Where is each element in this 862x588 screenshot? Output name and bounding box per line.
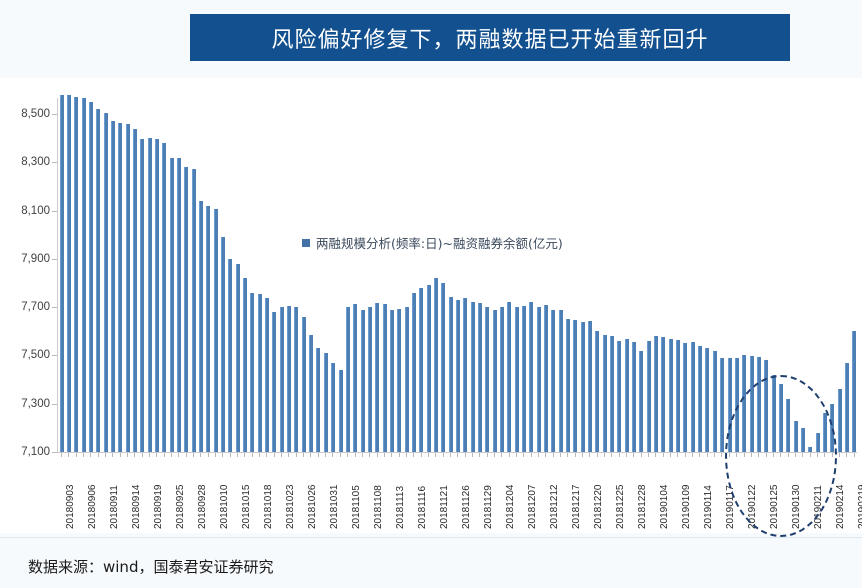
x-axis-tick	[413, 453, 414, 457]
bar	[140, 139, 144, 452]
bar	[111, 121, 115, 452]
x-axis-tick-label: 20181126	[461, 485, 472, 529]
bar	[133, 129, 137, 452]
x-axis-tick	[200, 453, 201, 457]
x-axis-tick	[824, 453, 825, 457]
x-axis-tick-label: 20180911	[109, 485, 120, 529]
y-axis-tick-label: 7,700	[4, 301, 50, 313]
bar	[808, 447, 812, 452]
bar	[779, 384, 783, 452]
x-axis-tick	[714, 453, 715, 457]
bar	[830, 404, 834, 452]
bar	[772, 375, 776, 452]
bar	[361, 310, 365, 452]
x-axis-tick	[839, 453, 840, 457]
y-axis-tick-label: 8,300	[4, 156, 50, 168]
x-axis-tick	[545, 453, 546, 457]
x-axis-tick	[230, 453, 231, 457]
x-axis-tick-label: 20181225	[615, 485, 626, 530]
x-axis-tick	[127, 453, 128, 457]
y-axis-tick	[52, 162, 57, 163]
bar	[441, 283, 445, 452]
bar	[309, 335, 313, 452]
bar	[705, 348, 709, 452]
x-axis-tick	[751, 453, 752, 457]
x-axis-tick	[692, 453, 693, 457]
x-axis-tick	[766, 453, 767, 457]
bar	[228, 259, 232, 452]
x-axis-tick	[391, 453, 392, 457]
bar	[632, 342, 636, 452]
bar	[794, 421, 798, 452]
x-axis-tick	[340, 453, 341, 457]
y-axis-tick	[52, 114, 57, 115]
x-axis-tick	[648, 453, 649, 457]
bar	[823, 413, 827, 452]
bar	[96, 109, 100, 452]
bar	[471, 302, 475, 452]
x-axis-tick	[832, 453, 833, 457]
x-axis-tick	[641, 453, 642, 457]
bar	[449, 297, 453, 452]
bar	[786, 399, 790, 452]
x-axis-tick	[589, 453, 590, 457]
x-axis-tick-label: 20190109	[681, 485, 692, 530]
legend-label: 两融规模分析(频率:日)~融资融券余额(亿元)	[316, 233, 563, 252]
bar	[434, 278, 438, 452]
bar	[427, 285, 431, 452]
x-axis-tick	[472, 453, 473, 457]
x-axis-tick	[288, 453, 289, 457]
x-axis-tick-label: 20181212	[549, 485, 560, 530]
x-axis-tick	[670, 453, 671, 457]
x-axis-tick	[362, 453, 363, 457]
bar	[316, 348, 320, 452]
bar	[280, 307, 284, 452]
bar	[493, 310, 497, 452]
x-axis-ticks	[58, 453, 858, 458]
x-axis-tick-label: 20190122	[747, 485, 758, 530]
x-axis-tick	[90, 453, 91, 457]
x-axis-tick	[450, 453, 451, 457]
x-axis-tick	[142, 453, 143, 457]
bar	[243, 278, 247, 452]
bar	[838, 389, 842, 452]
x-axis-tick-label: 20190130	[791, 485, 802, 530]
x-axis-tick	[68, 453, 69, 457]
bar	[588, 321, 592, 452]
x-axis-tick	[83, 453, 84, 457]
x-axis-tick	[744, 453, 745, 457]
x-axis-tick	[171, 453, 172, 457]
x-axis-tick-label: 20180914	[131, 485, 142, 530]
y-axis-tick-label: 8,500	[4, 108, 50, 120]
x-axis-tick	[538, 453, 539, 457]
x-axis-tick	[186, 453, 187, 457]
bar	[148, 138, 152, 452]
bar	[82, 98, 86, 452]
x-axis-tick-label: 20181116	[417, 486, 428, 529]
x-axis-tick-label: 20181228	[637, 485, 648, 530]
x-axis-tick	[655, 453, 656, 457]
x-axis-tick-label: 20190125	[769, 485, 780, 530]
bar-series	[58, 90, 858, 452]
bar	[177, 158, 181, 452]
bar	[390, 310, 394, 452]
x-axis-tick	[215, 453, 216, 457]
bar	[89, 102, 93, 452]
bar	[529, 302, 533, 452]
x-axis-tick	[98, 453, 99, 457]
bar	[713, 351, 717, 452]
bar	[625, 339, 629, 452]
x-axis-tick	[325, 453, 326, 457]
x-axis-tick	[854, 453, 855, 457]
x-axis-tick-label: 20181220	[593, 485, 604, 530]
bar	[639, 351, 643, 452]
x-axis-tick	[428, 453, 429, 457]
bar	[456, 300, 460, 452]
x-axis-tick-label: 20181129	[483, 485, 494, 529]
x-axis-tick-label: 20190117	[725, 485, 736, 529]
bar	[478, 303, 482, 452]
y-axis: 7,1007,3007,5007,7007,9008,1008,3008,500	[2, 78, 50, 533]
bar	[258, 294, 262, 452]
bar	[184, 167, 188, 452]
bar	[816, 433, 820, 452]
x-axis-tick	[795, 453, 796, 457]
x-axis-tick-label: 20181010	[219, 485, 230, 530]
x-axis-tick-label: 20181217	[571, 485, 582, 530]
x-axis-tick	[384, 453, 385, 457]
x-axis-tick	[817, 453, 818, 457]
bar	[162, 143, 166, 452]
x-axis-tick	[457, 453, 458, 457]
x-axis-tick	[553, 453, 554, 457]
x-axis-tick	[406, 453, 407, 457]
bar	[287, 306, 291, 452]
bar	[676, 340, 680, 452]
x-axis-tick	[501, 453, 502, 457]
x-axis-tick	[619, 453, 620, 457]
slide-title-text: 风险偏好修复下，两融数据已开始重新回升	[271, 22, 708, 54]
bar	[728, 358, 732, 452]
x-axis-tick-label: 20181026	[307, 485, 318, 530]
x-axis-tick	[399, 453, 400, 457]
bar	[661, 337, 665, 452]
bar	[610, 336, 614, 452]
x-axis-tick-label: 20190211	[813, 485, 824, 529]
y-axis-tick	[52, 355, 57, 356]
x-axis-tick	[465, 453, 466, 457]
x-axis-tick	[567, 453, 568, 457]
bar	[324, 353, 328, 452]
x-axis-tick	[611, 453, 612, 457]
x-axis-tick	[707, 453, 708, 457]
x-axis-tick	[318, 453, 319, 457]
x-axis-tick	[699, 453, 700, 457]
x-axis-tick	[369, 453, 370, 457]
data-source-note: 数据来源：wind，国泰君安证券研究	[28, 556, 273, 577]
x-axis-tick	[736, 453, 737, 457]
y-axis-tick-label: 7,500	[4, 349, 50, 361]
y-axis-tick	[52, 307, 57, 308]
x-axis-tick	[788, 453, 789, 457]
y-axis-tick	[52, 452, 57, 453]
bar	[801, 428, 805, 452]
bar	[463, 298, 467, 452]
bar	[515, 307, 519, 452]
x-axis-tick	[721, 453, 722, 457]
x-axis-tick	[112, 453, 113, 457]
x-axis-tick	[729, 453, 730, 457]
bar	[852, 331, 856, 452]
x-axis-tick	[76, 453, 77, 457]
bar	[757, 357, 761, 452]
bar	[74, 97, 78, 452]
bar	[206, 206, 210, 452]
x-axis-tick-label: 20180925	[175, 485, 186, 530]
x-axis-tick-label: 20181031	[329, 485, 340, 530]
x-axis-tick-label: 20181105	[351, 485, 362, 529]
bar	[500, 307, 504, 452]
x-axis-tick	[252, 453, 253, 457]
y-axis-tick-label: 8,100	[4, 205, 50, 217]
bar	[104, 113, 108, 452]
x-axis-tick	[310, 453, 311, 457]
x-axis-tick	[604, 453, 605, 457]
x-axis-tick-label: 20190219	[857, 485, 862, 530]
legend-swatch-icon	[302, 239, 310, 247]
x-axis-tick-label: 20180903	[65, 485, 76, 530]
chart-plot-area: 7,1007,3007,5007,7007,9008,1008,3008,500…	[0, 78, 862, 533]
x-axis-tick	[105, 453, 106, 457]
bar	[272, 312, 276, 452]
bar	[339, 370, 343, 452]
x-axis-tick	[134, 453, 135, 457]
x-axis-tick	[494, 453, 495, 457]
x-axis-tick	[523, 453, 524, 457]
bar	[192, 169, 196, 452]
x-axis-tick	[780, 453, 781, 457]
x-axis-tick	[421, 453, 422, 457]
bar	[581, 322, 585, 452]
x-axis-tick	[758, 453, 759, 457]
bar	[353, 304, 357, 452]
x-axis-tick	[582, 453, 583, 457]
bar	[419, 288, 423, 452]
chart-legend: 两融规模分析(频率:日)~融资融券余额(亿元)	[302, 233, 563, 252]
bar	[595, 331, 599, 452]
x-axis-tick	[178, 453, 179, 457]
x-axis-tick-label: 20181207	[527, 485, 538, 530]
bar	[126, 124, 130, 452]
y-axis-tick	[52, 211, 57, 212]
x-axis-tick	[208, 453, 209, 457]
x-axis-tick	[332, 453, 333, 457]
x-axis-tick-label: 20190114	[703, 485, 714, 529]
x-axis-tick	[149, 453, 150, 457]
x-axis-tick	[663, 453, 664, 457]
x-axis-tick-label: 20181018	[263, 485, 274, 530]
x-axis-tick	[802, 453, 803, 457]
x-axis-labels: 2018090320180906201809112018091420180919…	[58, 459, 858, 531]
bar	[845, 363, 849, 452]
x-axis-tick-label: 20180919	[153, 485, 164, 530]
x-axis-tick	[259, 453, 260, 457]
bar	[67, 95, 71, 452]
x-axis-tick	[575, 453, 576, 457]
x-axis-tick	[597, 453, 598, 457]
x-axis-tick	[479, 453, 480, 457]
bar	[691, 342, 695, 452]
x-axis-tick	[274, 453, 275, 457]
bar	[346, 307, 350, 452]
bar	[698, 346, 702, 452]
x-axis-tick-label: 20180928	[197, 485, 208, 530]
bar	[265, 298, 269, 452]
footer-divider	[0, 537, 862, 538]
x-axis-tick	[120, 453, 121, 457]
bar	[647, 341, 651, 452]
x-axis-tick	[773, 453, 774, 457]
x-axis-tick-label: 20181023	[285, 485, 296, 530]
bar	[573, 320, 577, 452]
x-axis-tick-label: 20181113	[395, 486, 406, 529]
slide-root: 风险偏好修复下，两融数据已开始重新回升 7,1007,3007,5007,700…	[0, 0, 862, 588]
x-axis-tick	[355, 453, 356, 457]
bar	[368, 307, 372, 452]
x-axis-tick-label: 20190214	[835, 485, 846, 530]
bar	[214, 209, 218, 452]
y-axis-tick-label: 7,100	[4, 446, 50, 458]
x-axis-tick-label: 20181204	[505, 485, 516, 530]
y-axis-tick	[52, 259, 57, 260]
bar	[485, 307, 489, 452]
chart-card: 7,1007,3007,5007,7007,9008,1008,3008,500…	[0, 78, 862, 533]
bar	[750, 356, 754, 452]
x-axis-tick	[296, 453, 297, 457]
x-axis-tick	[303, 453, 304, 457]
bar	[603, 335, 607, 452]
x-axis-tick	[435, 453, 436, 457]
x-axis-tick	[347, 453, 348, 457]
x-axis-tick	[531, 453, 532, 457]
bar	[199, 201, 203, 452]
bar	[60, 95, 64, 452]
bar	[331, 363, 335, 452]
x-axis-tick	[281, 453, 282, 457]
x-axis-tick	[810, 453, 811, 457]
x-axis-tick-label: 20181015	[241, 485, 252, 530]
x-axis-tick-label: 20180906	[87, 485, 98, 530]
bar	[522, 306, 526, 452]
x-axis-tick	[244, 453, 245, 457]
bar	[735, 358, 739, 452]
y-axis-tick-label: 7,300	[4, 398, 50, 410]
x-axis-tick	[677, 453, 678, 457]
bar	[559, 310, 563, 452]
bar	[742, 355, 746, 452]
bar	[405, 307, 409, 452]
bar	[537, 307, 541, 452]
x-axis-tick	[509, 453, 510, 457]
bar	[617, 341, 621, 452]
bar	[412, 293, 416, 452]
x-axis-tick	[193, 453, 194, 457]
x-axis-tick	[443, 453, 444, 457]
x-axis-tick	[633, 453, 634, 457]
y-axis-tick-label: 7,900	[4, 253, 50, 265]
bar	[683, 343, 687, 452]
x-axis-tick	[685, 453, 686, 457]
x-axis-tick	[164, 453, 165, 457]
bar	[720, 358, 724, 452]
x-axis-tick	[487, 453, 488, 457]
bar	[236, 264, 240, 452]
x-axis-tick	[626, 453, 627, 457]
bar	[294, 307, 298, 452]
bar	[221, 237, 225, 452]
x-axis-tick	[222, 453, 223, 457]
y-axis-tick	[52, 404, 57, 405]
bar	[669, 339, 673, 452]
bar	[566, 319, 570, 452]
bar	[170, 158, 174, 452]
bar	[544, 305, 548, 452]
bar	[118, 123, 122, 452]
bar	[375, 303, 379, 452]
slide-title-banner: 风险偏好修复下，两融数据已开始重新回升	[190, 14, 790, 61]
bar	[764, 360, 768, 452]
x-axis-tick	[560, 453, 561, 457]
bar	[302, 317, 306, 452]
bar	[155, 139, 159, 452]
x-axis-tick-label: 20181121	[439, 485, 450, 529]
bar	[397, 309, 401, 452]
bar	[654, 336, 658, 452]
x-axis-tick	[377, 453, 378, 457]
bar	[250, 293, 254, 452]
x-axis-tick	[846, 453, 847, 457]
bar	[383, 304, 387, 452]
bar	[507, 302, 511, 452]
bar	[551, 310, 555, 452]
x-axis-tick	[516, 453, 517, 457]
x-axis-tick-label: 20190104	[659, 485, 670, 530]
x-axis-tick	[266, 453, 267, 457]
x-axis-tick	[156, 453, 157, 457]
x-axis-tick	[237, 453, 238, 457]
x-axis-tick-label: 20181108	[373, 485, 384, 529]
x-axis-tick	[61, 453, 62, 457]
